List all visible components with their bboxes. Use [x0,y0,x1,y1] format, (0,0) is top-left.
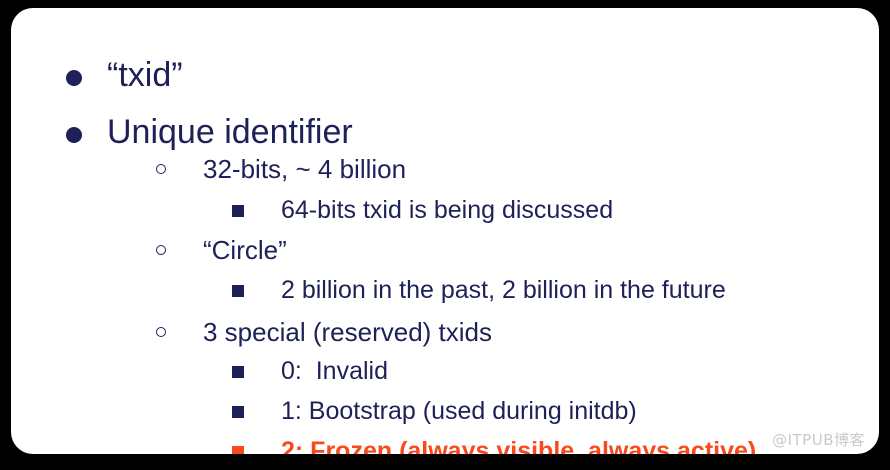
list-item-label: 64-bits txid is being discussed [281,198,613,223]
list-item: 64-bits txid is being discussed [226,198,613,223]
list-item-label: 2 billion in the past, 2 billion in the … [281,278,726,303]
watermark: @ITPUB博客 [772,429,865,450]
list-item-label: 1: Bootstrap (used during initdb) [281,399,637,424]
list-item: “txid” [59,58,183,92]
slide-root: “txid” Unique identifier 32-bits, ~ 4 bi… [0,0,890,470]
list-item: Unique identifier [59,115,353,149]
list-item: 2 billion in the past, 2 billion in the … [226,278,726,303]
list-item-highlighted: 2: Frozen (always visible, always active… [226,439,756,454]
list-item-label: 2: Frozen (always visible, always active… [281,439,756,454]
list-item: 3 special (reserved) txids [148,319,492,345]
list-item-label: “Circle” [203,237,287,263]
list-item-label: Unique identifier [107,115,353,149]
list-item-label: “txid” [107,58,183,92]
list-item: 0: Invalid [226,359,388,384]
list-item-label: 0: Invalid [281,359,388,384]
list-item-label: 32-bits, ~ 4 billion [203,156,406,182]
list-item: “Circle” [148,237,287,263]
list-item-label: 3 special (reserved) txids [203,319,492,345]
list-item: 1: Bootstrap (used during initdb) [226,399,637,424]
slide-card: “txid” Unique identifier 32-bits, ~ 4 bi… [11,8,879,454]
list-item: 32-bits, ~ 4 billion [148,156,406,182]
